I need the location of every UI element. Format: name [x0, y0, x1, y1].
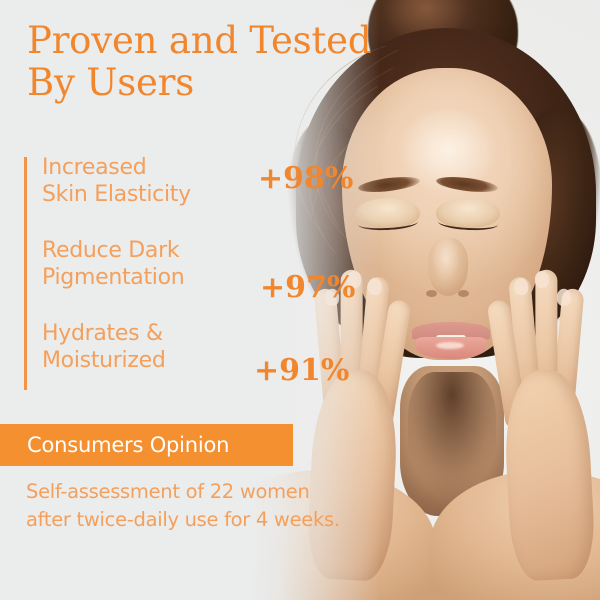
consumers-opinion-body: Self-assessment of 22 women after twice-…	[26, 478, 356, 533]
stat-label: Hydrates & Moisturized	[42, 321, 166, 375]
stat-row: Increased Skin Elasticity +98%	[42, 155, 342, 209]
page-title: Proven and Tested By Users	[27, 20, 447, 104]
consumers-opinion-banner-label: Consumers Opinion	[0, 433, 229, 457]
page-title-line-2: By Users	[27, 62, 447, 104]
page-title-line-1: Proven and Tested	[27, 20, 447, 62]
stat-value: +97%	[254, 270, 355, 305]
stat-row: Reduce Dark Pigmentation +97%	[42, 238, 342, 292]
stat-row: Hydrates & Moisturized +91%	[42, 321, 342, 375]
stat-label: Reduce Dark Pigmentation	[42, 238, 184, 292]
stat-label: Increased Skin Elasticity	[42, 155, 191, 209]
consumers-opinion-banner: Consumers Opinion	[0, 424, 293, 466]
skincare-results-infographic: Proven and Tested By Users Increased Ski…	[0, 0, 600, 600]
stat-value: +91%	[248, 353, 349, 388]
stat-value: +98%	[252, 161, 353, 196]
stats-accent-rule	[24, 157, 27, 390]
content-layer: Proven and Tested By Users Increased Ski…	[0, 0, 600, 600]
